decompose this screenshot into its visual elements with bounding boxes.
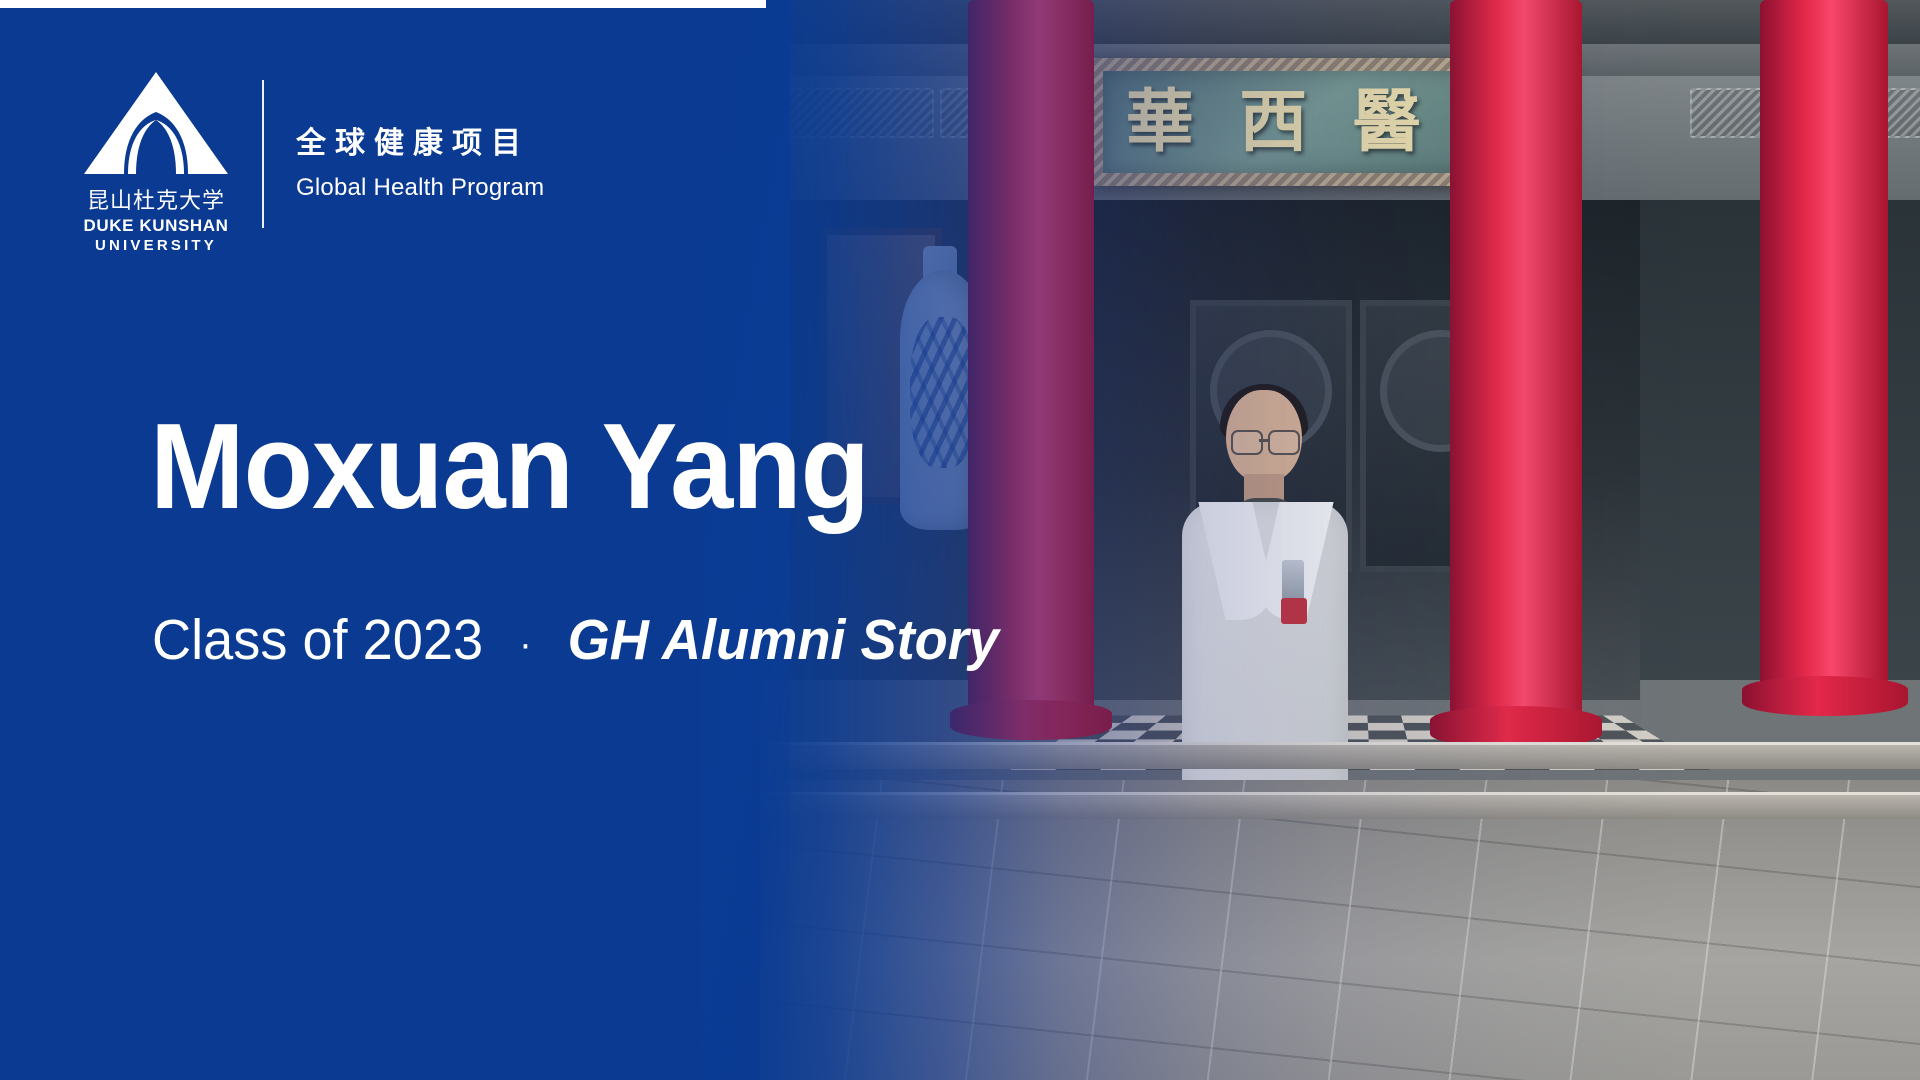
top-white-bar	[0, 0, 766, 8]
dku-university-name-en-line2: UNIVERSITY	[82, 237, 230, 254]
separator-dot: ·	[519, 622, 532, 666]
dku-mountain-mark-icon	[82, 70, 230, 178]
alumnus-subtitle: Class of 2023 · GH Alumni Story	[152, 612, 999, 669]
banner-content: 昆山杜克大学 DUKE KUNSHAN UNIVERSITY 全球健康项目 Gl…	[0, 0, 790, 1080]
alumni-story-banner: 華 西 醫 院	[0, 0, 1920, 1080]
logo-divider	[262, 80, 264, 228]
logo-lockup[interactable]: 昆山杜克大学 DUKE KUNSHAN UNIVERSITY 全球健康项目 Gl…	[82, 70, 544, 254]
program-name-en: Global Health Program	[296, 174, 544, 202]
hero-photo: 華 西 醫 院	[760, 0, 1920, 1080]
program-name-zh: 全球健康项目	[296, 118, 544, 162]
dku-university-name-zh: 昆山杜克大学	[82, 183, 230, 215]
class-year-label: Class of 2023	[152, 608, 483, 672]
story-type-label: GH Alumni Story	[568, 608, 999, 672]
blue-gradient-overlay	[760, 0, 1920, 1080]
dku-logo[interactable]: 昆山杜克大学 DUKE KUNSHAN UNIVERSITY	[82, 70, 230, 254]
dku-university-name-en-line1: DUKE KUNSHAN	[82, 216, 230, 236]
alumnus-name: Moxuan Yang	[150, 405, 869, 527]
program-lockup: 全球健康项目 Global Health Program	[296, 118, 544, 202]
